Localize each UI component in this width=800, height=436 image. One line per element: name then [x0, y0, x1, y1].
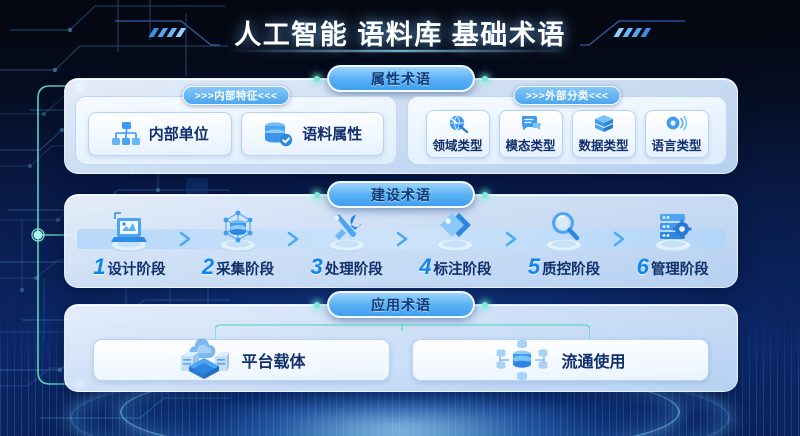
card-label: 内部单位 [149, 123, 209, 144]
section-construction-terms: 建设术语 [64, 194, 738, 288]
card-data-type[interactable]: 数据类型 [572, 110, 636, 158]
infographic-canvas: 人工智能 语料库 基础术语 属性术语 [0, 0, 800, 436]
header-dot-left-icon [314, 192, 320, 198]
header-dot-right-icon [482, 76, 488, 82]
page-title: 人工智能 语料库 基础术语 [234, 13, 566, 52]
section-attribute-terms: 属性术语 >>>内部特征<<< [64, 78, 738, 174]
header-dot-right-icon [482, 192, 488, 198]
card-domain-type[interactable]: 领域类型 [426, 110, 490, 158]
header-dot-right-icon [482, 302, 488, 308]
group-external-title: >>>外部分类<<< [526, 88, 609, 103]
stage-glow [200, 386, 600, 436]
attribute-groups: >>>内部特征<<< 内部单位 [75, 96, 727, 165]
group-external-classification: >>>外部分类<<< 领域类型 [407, 96, 727, 165]
title-underline [230, 50, 570, 52]
stage-number: 2 [202, 256, 214, 278]
slash-deco-right-icon [580, 17, 685, 47]
application-cards: 平台载体 [93, 339, 709, 381]
stage-flow: 1 设计阶段 [75, 209, 727, 283]
cloud-servers-icon [177, 338, 229, 382]
card-label: 模态类型 [505, 135, 555, 154]
slash-deco-left-icon [115, 17, 220, 47]
section-application-terms: 应用术语 [64, 304, 738, 392]
header-dot-left-icon [314, 302, 320, 308]
stage-collection[interactable]: 2 采集阶段 [184, 209, 293, 279]
section-application-title: 应用术语 [371, 295, 431, 315]
header-dot-left-icon [314, 76, 320, 82]
card-circulation-use[interactable]: 流通使用 [412, 339, 709, 381]
globe-icon [447, 114, 469, 134]
stage-number: 1 [93, 256, 105, 278]
stage-label: 设计阶段 [107, 258, 165, 279]
data-collect-node-icon [211, 209, 265, 255]
stage-processing[interactable]: 3 处理阶段 [292, 209, 401, 279]
section-attribute-title: 属性术语 [371, 69, 431, 89]
group-internal-title-pill[interactable]: >>>内部特征<<< [183, 86, 290, 105]
stage-management[interactable]: 6 管理阶段 [618, 209, 727, 279]
card-label: 数据类型 [578, 135, 628, 154]
section-attribute-header: 属性术语 [314, 65, 488, 92]
section-construction-header: 建设术语 [314, 181, 488, 208]
chat-bubble-icon [520, 114, 542, 134]
speech-wave-icon [665, 114, 689, 134]
server-gear-icon [646, 209, 700, 255]
card-modality-type[interactable]: 模态类型 [499, 110, 563, 158]
magnifier-icon [537, 209, 591, 255]
card-label: 语言类型 [651, 135, 701, 154]
card-language-type[interactable]: 语言类型 [645, 110, 709, 158]
stage-number: 3 [311, 256, 323, 278]
stage-label: 管理阶段 [651, 258, 709, 279]
stage-number: 6 [637, 256, 649, 278]
tags-icon [428, 209, 482, 255]
stage-quality-control[interactable]: 5 质控阶段 [510, 209, 619, 279]
data-stack-icon [593, 114, 615, 134]
card-label: 领域类型 [432, 135, 482, 154]
group-internal-features: >>>内部特征<<< 内部单位 [75, 96, 397, 165]
section-application-title-pill[interactable]: 应用术语 [327, 291, 475, 318]
stage-annotation[interactable]: 4 标注阶段 [401, 209, 510, 279]
blueprint-laptop-icon [102, 209, 156, 255]
stage-label: 质控阶段 [542, 258, 600, 279]
stage-number: 4 [419, 256, 431, 278]
section-attribute-title-pill[interactable]: 属性术语 [327, 65, 475, 92]
stage-label: 采集阶段 [216, 258, 274, 279]
section-application-header: 应用术语 [314, 291, 488, 318]
card-corpus-attribute[interactable]: 语料属性 [241, 112, 385, 156]
section-construction-title-pill[interactable]: 建设术语 [327, 181, 475, 208]
stage-number: 5 [528, 256, 540, 278]
stage-label: 标注阶段 [433, 258, 491, 279]
org-chart-icon [111, 120, 141, 148]
card-label: 流通使用 [561, 348, 625, 372]
tools-icon [320, 209, 374, 255]
stage-label: 处理阶段 [325, 258, 383, 279]
card-platform-carrier[interactable]: 平台载体 [93, 339, 390, 381]
section-construction-title: 建设术语 [371, 185, 431, 205]
data-exchange-icon [495, 338, 549, 382]
group-internal-title: >>>内部特征<<< [195, 88, 278, 103]
card-label: 平台载体 [241, 348, 305, 372]
database-check-icon [262, 120, 294, 148]
group-external-title-pill[interactable]: >>>外部分类<<< [514, 86, 621, 105]
stage-design[interactable]: 1 设计阶段 [75, 209, 184, 279]
card-internal-unit[interactable]: 内部单位 [88, 112, 232, 156]
card-label: 语料属性 [302, 123, 362, 144]
